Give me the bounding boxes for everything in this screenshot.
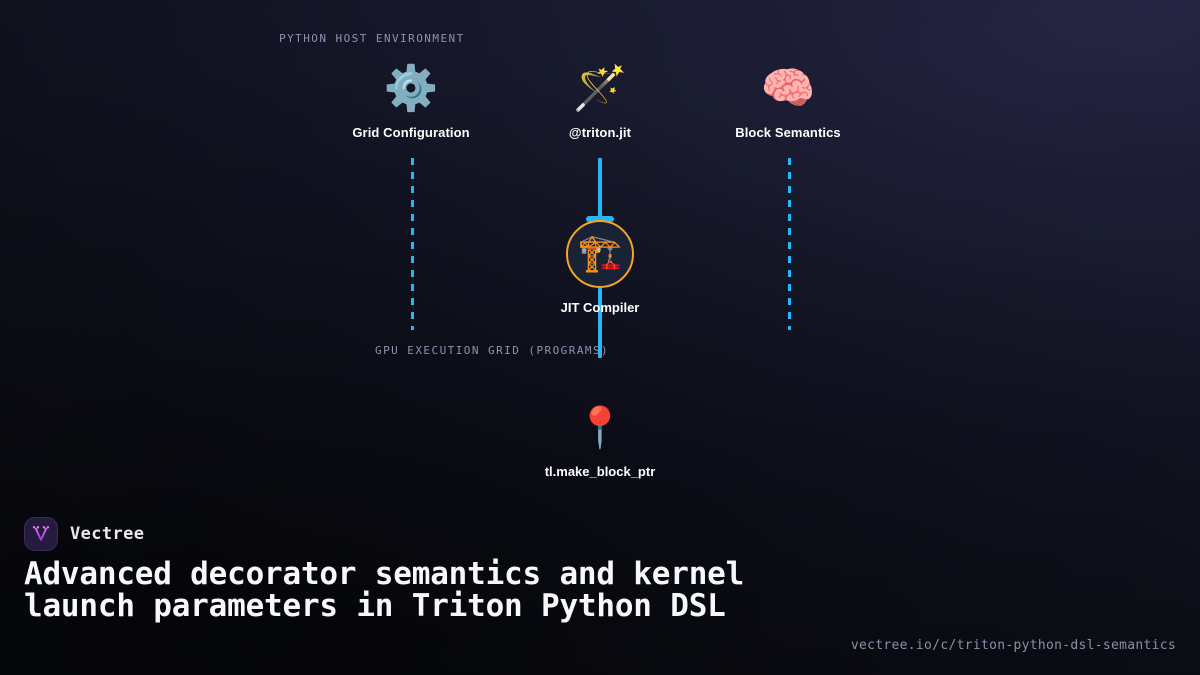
diagram-node-label-grid-configuration: Grid Configuration [301,125,521,140]
page-title: Advanced decorator semantics and kernel … [24,558,824,622]
diagram-node-label-make-block-ptr: tl.make_block_ptr [480,464,720,479]
diagram-node-make-block-ptr[interactable]: 📍 tl.make_block_ptr [480,404,720,479]
brand-name: Vectree [70,524,144,544]
diagram-node-label-jit-compiler: JIT Compiler [500,300,700,315]
python-host-environment-band-label: PYTHON HOST ENVIRONMENT [279,32,465,45]
diagram-node-label-triton-jit: @triton.jit [490,125,710,140]
gear-icon: ⚙️ [301,63,521,115]
connector-solid-top [598,158,602,220]
round-pushpin-icon: 📍 [480,404,720,452]
diagram-node-label-block-semantics: Block Semantics [678,125,898,140]
footer-banner: Vectree Advanced decorator semantics and… [0,490,1200,675]
vectree-logo-icon [24,517,58,551]
brain-icon: 🧠 [678,63,898,115]
construction-crane-icon: 🏗️ [578,236,623,272]
jit-compiler-circle: 🏗️ [566,220,634,288]
connector-dashed-left [411,158,414,330]
diagram-node-jit-compiler[interactable]: 🏗️ JIT Compiler [500,220,700,315]
diagram-node-grid-configuration[interactable]: ⚙️ Grid Configuration [301,63,521,140]
gpu-execution-grid-band-label: GPU EXECUTION GRID (PROGRAMS) [375,344,609,357]
diagram-node-block-semantics[interactable]: 🧠 Block Semantics [678,63,898,140]
brand-row[interactable]: Vectree [24,517,144,551]
footer-url: vectree.io/c/triton-python-dsl-semantics [851,638,1176,653]
connector-dashed-right [788,158,791,330]
magic-wand-icon: 🪄 [490,63,710,115]
diagram-node-triton-jit[interactable]: 🪄 @triton.jit [490,63,710,140]
